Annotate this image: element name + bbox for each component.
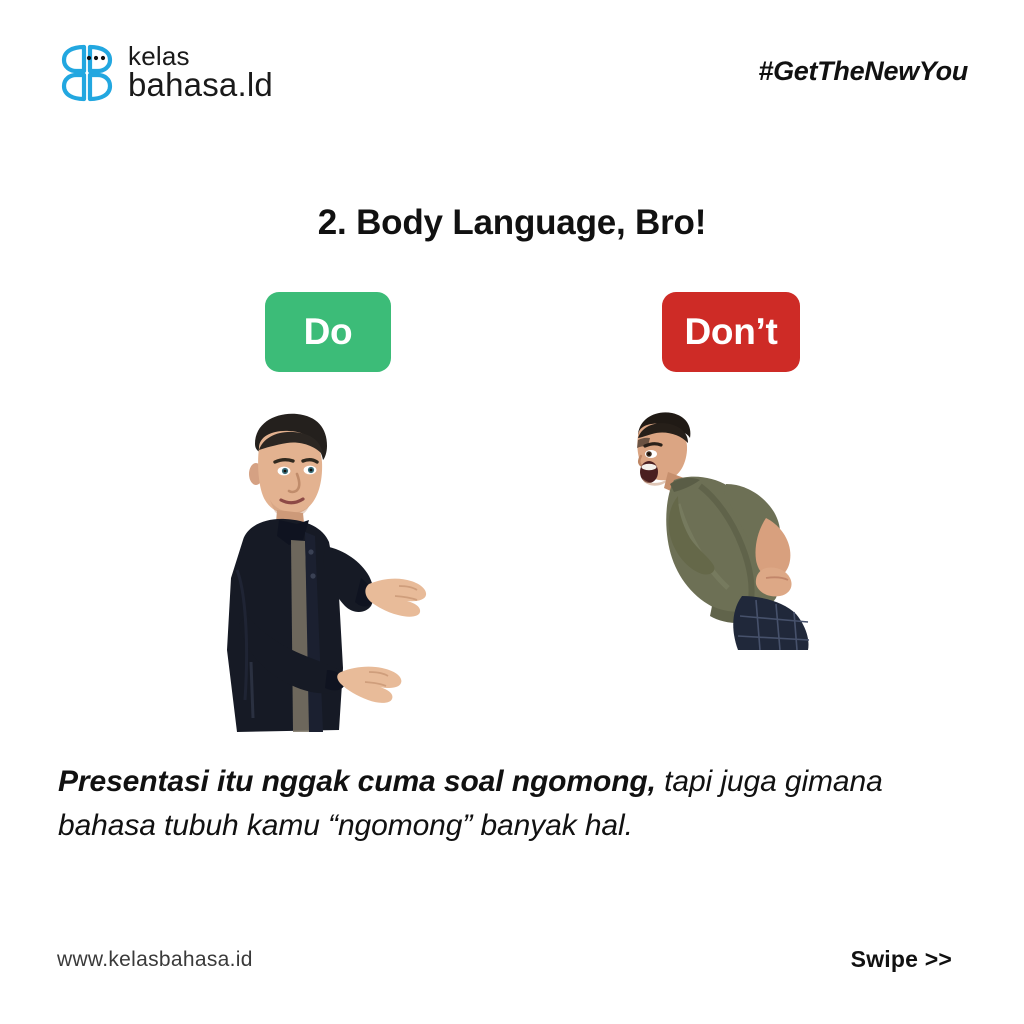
page-title: 2. Body Language, Bro! — [0, 203, 1024, 243]
brand-line-bahasa: bahasa.ld — [128, 70, 273, 100]
caption-bold: Presentasi itu nggak cuma soal ngomong, — [58, 765, 656, 798]
header: kelas bahasa.ld #GetTheNewYou — [0, 42, 1024, 122]
badge-wrap-dont: Don’t — [546, 292, 916, 372]
clover-logo-icon — [56, 42, 118, 104]
footer: www.kelasbahasa.id Swipe >> — [0, 948, 1024, 982]
badge-do: Do — [265, 292, 391, 372]
photo-do — [148, 400, 508, 740]
slide-canvas: kelas bahasa.ld #GetTheNewYou 2. Body La… — [0, 0, 1024, 1024]
campaign-hashtag: #GetTheNewYou — [758, 56, 968, 87]
swipe-indicator[interactable]: Swipe >> — [851, 946, 952, 973]
brand-wordmark: kelas bahasa.ld — [128, 45, 273, 100]
comparison-columns: Do — [0, 292, 1024, 742]
column-dont: Don’t — [546, 292, 916, 372]
brand-logo[interactable]: kelas bahasa.ld — [56, 42, 273, 104]
badge-wrap-do: Do — [148, 292, 508, 372]
badge-dont: Don’t — [662, 292, 799, 372]
photo-dont — [546, 400, 916, 650]
caption-text: Presentasi itu nggak cuma soal ngomong, … — [58, 760, 958, 848]
column-do: Do — [148, 292, 508, 372]
footer-website-url[interactable]: www.kelasbahasa.id — [57, 948, 253, 972]
